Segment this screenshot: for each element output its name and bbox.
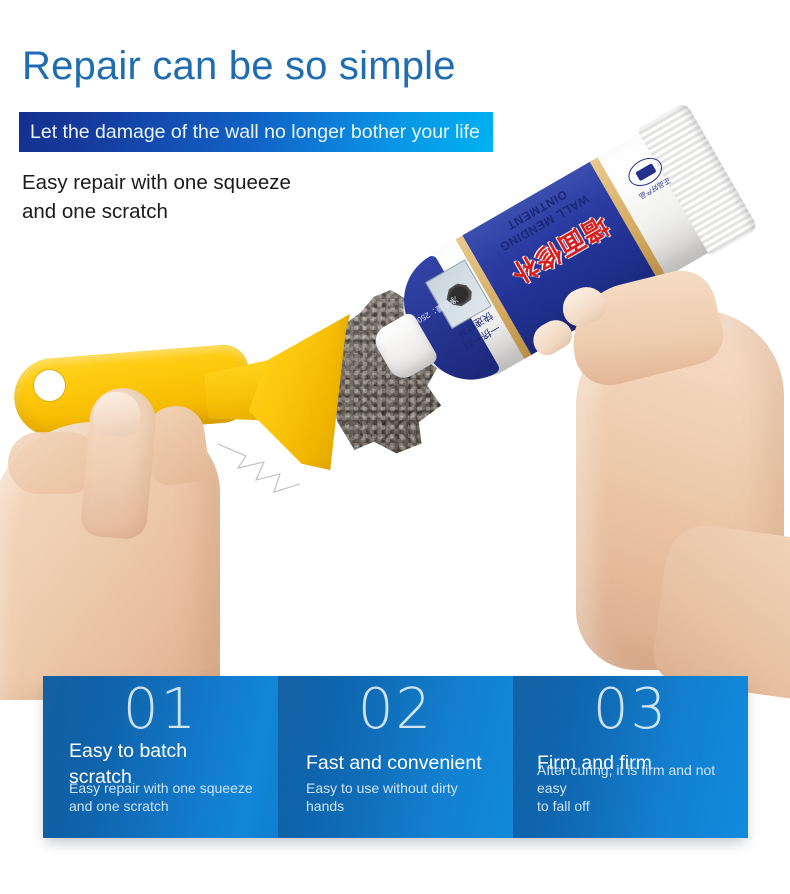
product-promo-image: WALL MENDING OINTMENT 墙面修补 一挤一刮 快速修补 净含量…	[0, 0, 790, 894]
subtitle-banner-text: Let the damage of the wall no longer bot…	[19, 121, 480, 144]
feature-card-03[interactable]: 03 Firm and firm After curing, it is fir…	[513, 676, 748, 838]
right-hand-holding-tube	[540, 280, 790, 680]
feature-panel: 01 Easy to batch scratch Easy repair wit…	[43, 676, 748, 838]
product-photo-scene: WALL MENDING OINTMENT 墙面修补 一挤一刮 快速修补 净含量…	[0, 0, 790, 700]
subtitle-banner: Let the damage of the wall no longer bot…	[19, 112, 493, 152]
feature-number: 02	[278, 682, 513, 738]
feature-description: Easy to use without dirty hands	[306, 780, 501, 816]
right-wrist	[650, 520, 790, 699]
feature-number: 03	[513, 682, 748, 738]
feature-description: Easy repair with one squeeze and one scr…	[69, 780, 266, 816]
feature-title: Fast and convenient	[306, 750, 499, 776]
feature-description: After curing, it is firm and not easy to…	[537, 762, 736, 816]
page-title: Repair can be so simple	[22, 44, 456, 89]
feature-number: 01	[43, 682, 278, 738]
tagline-text: Easy repair with one squeeze and one scr…	[22, 168, 291, 226]
feature-card-01[interactable]: 01 Easy to batch scratch Easy repair wit…	[43, 676, 278, 838]
feature-card-02[interactable]: 02 Fast and convenient Easy to use witho…	[278, 676, 513, 838]
left-hand-holding-scraper	[0, 382, 290, 700]
